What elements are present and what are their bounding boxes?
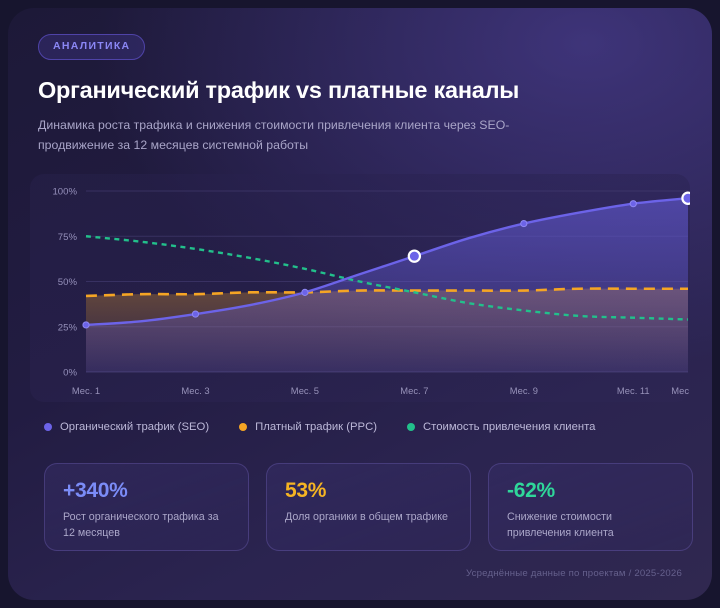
stat-value: +340% (63, 480, 230, 501)
page-title: Органический трафик vs платные каналы (38, 78, 682, 104)
x-axis-tick-label: Мес. 1 (72, 385, 100, 396)
seo-data-point-highlight[interactable] (409, 251, 420, 262)
chart-legend: Органический трафик (SEO)Платный трафик … (44, 421, 595, 433)
stat-label: Рост органического трафика за 12 месяцев (63, 510, 230, 541)
page-subtitle: Динамика роста трафика и снижения стоимо… (38, 116, 558, 156)
seo-data-point[interactable] (83, 322, 89, 328)
legend-color-dot-icon (44, 423, 52, 431)
x-axis-tick-label: Мес. 5 (291, 385, 319, 396)
legend-item[interactable]: Платный трафик (PPC) (239, 421, 377, 433)
stat-label: Доля органики в общем трафике (285, 510, 452, 526)
x-axis-tick-label: Мес. 11 (617, 385, 650, 396)
footer-note: Усреднённые данные по проектам / 2025-20… (466, 568, 682, 579)
seo-data-point-highlight[interactable] (682, 193, 690, 204)
legend-item-label: Органический трафик (SEO) (60, 421, 209, 433)
seo-data-point[interactable] (630, 201, 636, 207)
analytics-card: АНАЛИТИКА Органический трафик vs платные… (8, 8, 712, 600)
legend-item-label: Платный трафик (PPC) (255, 421, 377, 433)
traffic-line-chart: 0%25%50%75%100%Мес. 1Мес. 3Мес. 5Мес. 7М… (30, 174, 690, 402)
y-axis-tick-label: 75% (58, 232, 78, 243)
seo-data-point[interactable] (192, 311, 198, 317)
legend-item[interactable]: Органический трафик (SEO) (44, 421, 209, 433)
y-axis-tick-label: 25% (58, 322, 78, 333)
legend-color-dot-icon (239, 423, 247, 431)
category-badge: АНАЛИТИКА (38, 34, 145, 60)
stat-card: -62%Снижение стоимости привлечения клиен… (488, 463, 693, 551)
x-axis-tick-label: Мес. 9 (510, 385, 538, 396)
stat-value: -62% (507, 480, 674, 501)
x-axis-tick-label: Мес. 12 (671, 385, 690, 396)
y-axis-tick-label: 50% (58, 277, 78, 288)
x-axis-tick-label: Мес. 7 (400, 385, 428, 396)
legend-color-dot-icon (407, 423, 415, 431)
y-axis-tick-label: 0% (63, 368, 77, 379)
stat-value: 53% (285, 480, 452, 501)
seo-area-fill (86, 198, 688, 372)
stat-card: +340%Рост органического трафика за 12 ме… (44, 463, 249, 551)
legend-item[interactable]: Стоимость привлечения клиента (407, 421, 595, 433)
legend-item-label: Стоимость привлечения клиента (423, 421, 595, 433)
y-axis-tick-label: 100% (52, 187, 77, 198)
screenshot-root: АНАЛИТИКА Органический трафик vs платные… (0, 0, 720, 608)
chart-panel: 0%25%50%75%100%Мес. 1Мес. 3Мес. 5Мес. 7М… (30, 174, 690, 402)
x-axis-tick-label: Мес. 3 (181, 385, 209, 396)
stat-label: Снижение стоимости привлечения клиента (507, 510, 674, 541)
stat-card: 53%Доля органики в общем трафике (266, 463, 471, 551)
stat-card-row: +340%Рост органического трафика за 12 ме… (44, 463, 693, 551)
seo-data-point[interactable] (302, 289, 308, 295)
seo-data-point[interactable] (521, 220, 527, 226)
